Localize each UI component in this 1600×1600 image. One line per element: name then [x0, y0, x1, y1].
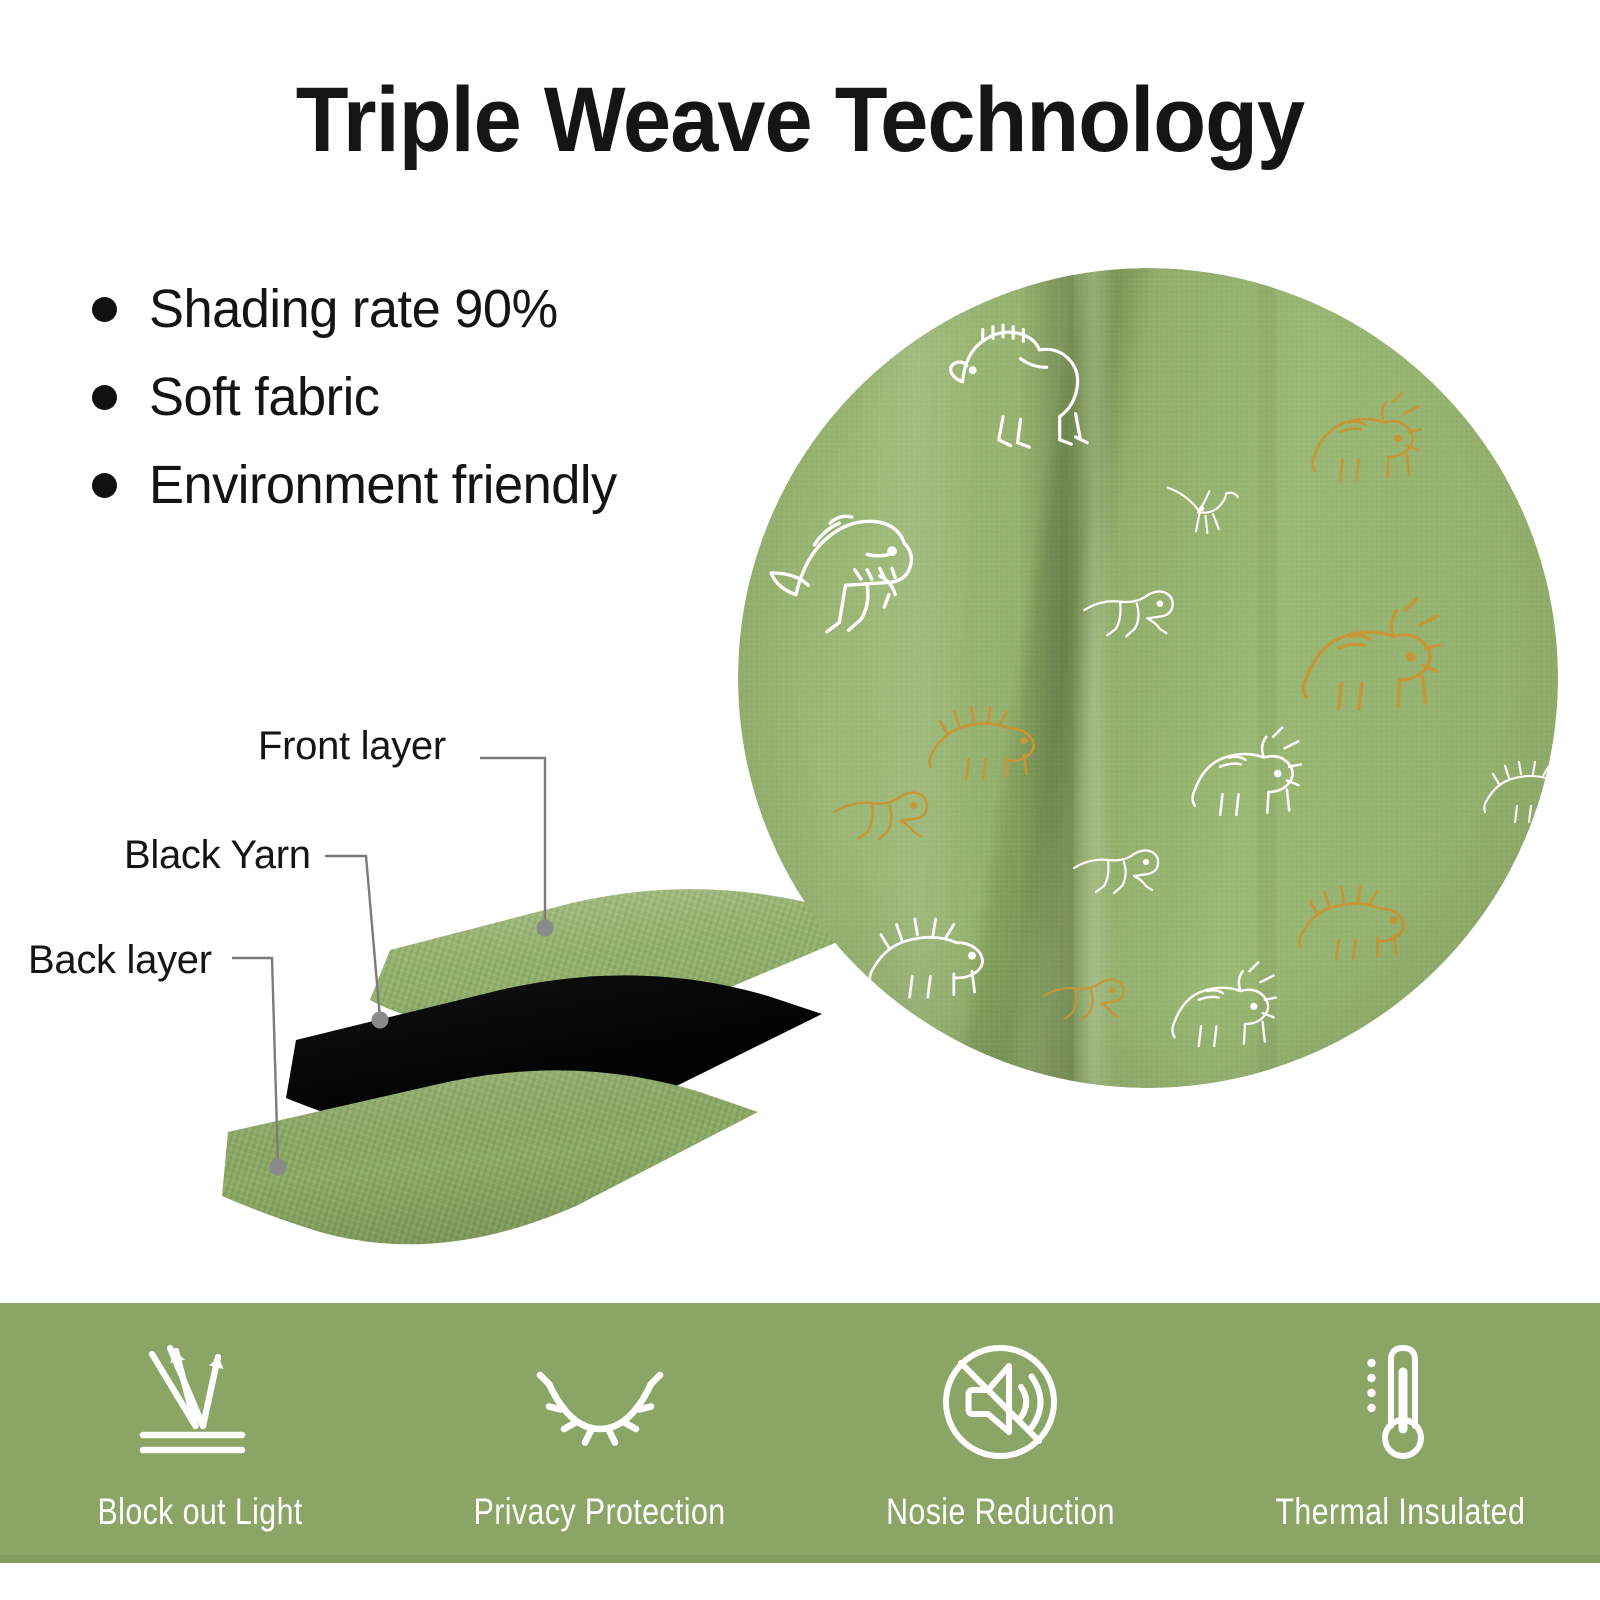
thermometer-icon: [1325, 1327, 1475, 1477]
feature-block-out-light[interactable]: Block out Light: [0, 1303, 400, 1563]
page-title: Triple Weave Technology: [48, 68, 1552, 173]
feature-label: Nosie Reduction: [886, 1491, 1115, 1533]
list-item: Soft fabric: [84, 353, 724, 441]
closed-eye-lashes-icon: [525, 1327, 675, 1477]
bullet-label: Soft fabric: [149, 366, 379, 428]
feature-noise-reduction[interactable]: Nosie Reduction: [800, 1303, 1200, 1563]
feature-thermal-insulated[interactable]: Thermal Insulated: [1200, 1303, 1600, 1563]
bullet-dot-icon: [92, 473, 117, 498]
leader-dot-back: [270, 1159, 287, 1176]
fabric-photo-circle: [738, 268, 1558, 1088]
infographic-canvas: Triple Weave Technology Shading rate 90%…: [0, 0, 1600, 1600]
leader-dot-front: [537, 920, 554, 937]
feature-label: Thermal Insulated: [1275, 1491, 1525, 1533]
bullet-dot-icon: [92, 297, 117, 322]
light-rays-blocked-icon: [125, 1327, 275, 1477]
feature-bar: Block out Light Privacy Protection: [0, 1303, 1600, 1563]
list-item: Environment friendly: [84, 441, 724, 529]
leader-dot-yarn: [372, 1012, 389, 1029]
bullet-label: Environment friendly: [149, 454, 617, 516]
bullet-label: Shading rate 90%: [149, 278, 558, 340]
feature-label: Privacy Protection: [474, 1491, 726, 1533]
muted-speaker-icon: [925, 1327, 1075, 1477]
feature-bar-bottom-edge: [0, 1555, 1600, 1563]
feature-bullet-list: Shading rate 90% Soft fabric Environment…: [84, 265, 724, 529]
list-item: Shading rate 90%: [84, 265, 724, 353]
bullet-dot-icon: [92, 385, 117, 410]
feature-privacy-protection[interactable]: Privacy Protection: [400, 1303, 800, 1563]
feature-label: Block out Light: [97, 1491, 302, 1533]
